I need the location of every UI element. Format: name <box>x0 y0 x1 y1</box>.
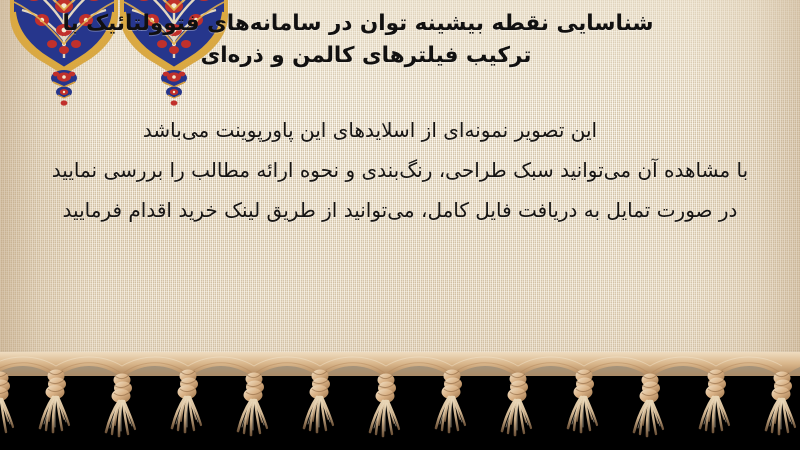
persian-medallion-ornament-left <box>8 0 120 108</box>
carpet-fringe <box>0 352 800 450</box>
persian-medallion-ornament-right <box>118 0 230 108</box>
presentation-slide: شناسایی نقطه بیشینه توان در سامانه‌های ف… <box>0 0 800 450</box>
